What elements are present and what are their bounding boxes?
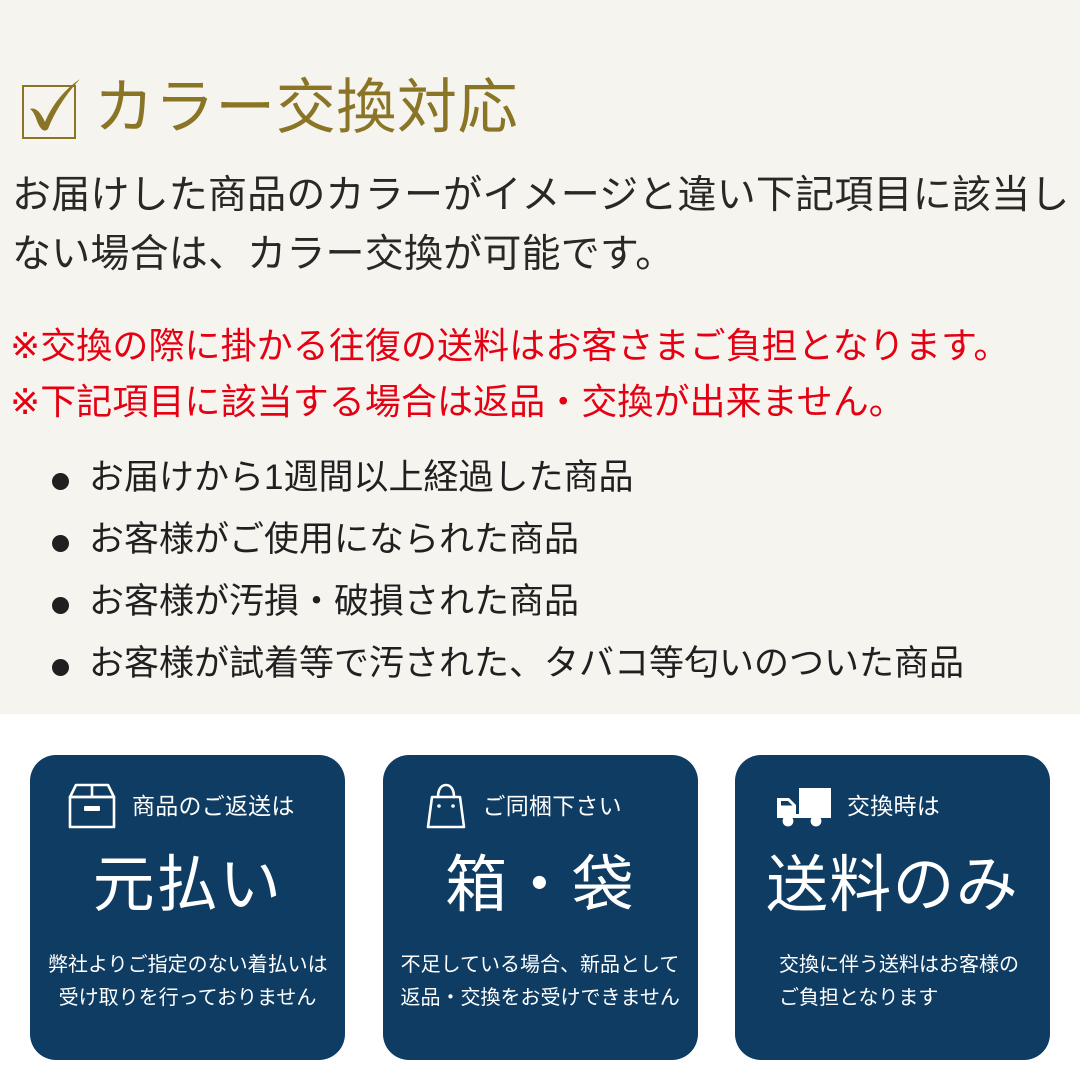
notice-line: ※交換の際に掛かる往復の送料はお客さまご負担となります。 — [10, 318, 1070, 374]
card-kicker: 商品のご返送は — [132, 795, 295, 818]
card-kicker: ご同梱下さい — [483, 795, 622, 818]
list-item: お客様がご使用になられた商品 — [52, 522, 1062, 578]
card-note: 不足している場合、新品として 返品・交換をお受けできません — [383, 949, 698, 1015]
card-headline: 元払い — [30, 855, 345, 917]
package-box-icon — [66, 782, 118, 830]
card-headline: 送料のみ — [735, 855, 1050, 917]
notice-line: ※下記項目に該当する場合は返品・交換が出来ません。 — [10, 374, 1070, 430]
list-item-label: お届けから1週間以上経過した商品 — [89, 460, 633, 495]
lead-paragraph: お届けした商品のカラーがイメージと違い下記項目に該当しない場合は、カラー交換が可… — [12, 166, 1072, 285]
page-title: カラー交換対応 — [94, 78, 518, 138]
list-item-label: お客様がご使用になられた商品 — [89, 522, 579, 557]
heading: カラー交換対応 — [18, 63, 518, 153]
card-headline: 箱・袋 — [383, 855, 698, 917]
card-note-line: 受け取りを行っておりません — [48, 982, 327, 1015]
card-header: 交換時は — [735, 755, 1050, 829]
red-notices: ※交換の際に掛かる往復の送料はお客さまご負担となります。 ※下記項目に該当する場… — [10, 318, 1070, 430]
info-card-soryo-nomi: 交換時は 送料のみ 交換に伴う送料はお客様の ご負担となります — [735, 755, 1050, 1060]
card-header: ご同梱下さい — [383, 755, 698, 829]
list-item-label: お客様が試着等で汚された、タバコ等匂いのついた商品 — [89, 646, 964, 681]
bullet-dot-icon — [52, 659, 69, 676]
card-note-line: 交換に伴う送料はお客様の — [779, 949, 1032, 982]
bullet-dot-icon — [52, 597, 69, 614]
info-card-hako-fukuro: ご同梱下さい 箱・袋 不足している場合、新品として 返品・交換をお受けできません — [383, 755, 698, 1060]
list-item: お客様が試着等で汚された、タバコ等匂いのついた商品 — [52, 646, 1062, 702]
info-card-row: 商品のご返送は 元払い 弊社よりご指定のない着払いは 受け取りを行っておりません — [30, 755, 1050, 1060]
list-item: お客様が汚損・破損された商品 — [52, 584, 1062, 640]
bullet-dot-icon — [52, 535, 69, 552]
list-item-label: お客様が汚損・破損された商品 — [89, 584, 579, 619]
card-note: 交換に伴う送料はお客様の ご負担となります — [735, 949, 1050, 1015]
delivery-truck-icon — [775, 782, 833, 830]
infographic-page: カラー交換対応 お届けした商品のカラーがイメージと違い下記項目に該当しない場合は… — [0, 0, 1080, 1080]
info-card-moto-barai: 商品のご返送は 元払い 弊社よりご指定のない着払いは 受け取りを行っておりません — [30, 755, 345, 1060]
list-item: お届けから1週間以上経過した商品 — [52, 460, 1062, 516]
card-header: 商品のご返送は — [30, 755, 345, 829]
card-note-line: 不足している場合、新品として — [401, 949, 680, 982]
exclusion-list: お届けから1週間以上経過した商品 お客様がご使用になられた商品 お客様が汚損・破… — [52, 460, 1062, 708]
card-kicker: 交換時は — [847, 795, 940, 818]
card-note-line: 返品・交換をお受けできません — [401, 982, 680, 1015]
checkbox-checked-icon — [18, 77, 80, 139]
shopping-bag-icon — [423, 782, 469, 830]
card-note-line: ご負担となります — [779, 982, 1032, 1015]
card-note: 弊社よりご指定のない着払いは 受け取りを行っておりません — [30, 949, 345, 1015]
bullet-dot-icon — [52, 473, 69, 490]
card-note-line: 弊社よりご指定のない着払いは — [48, 949, 327, 982]
